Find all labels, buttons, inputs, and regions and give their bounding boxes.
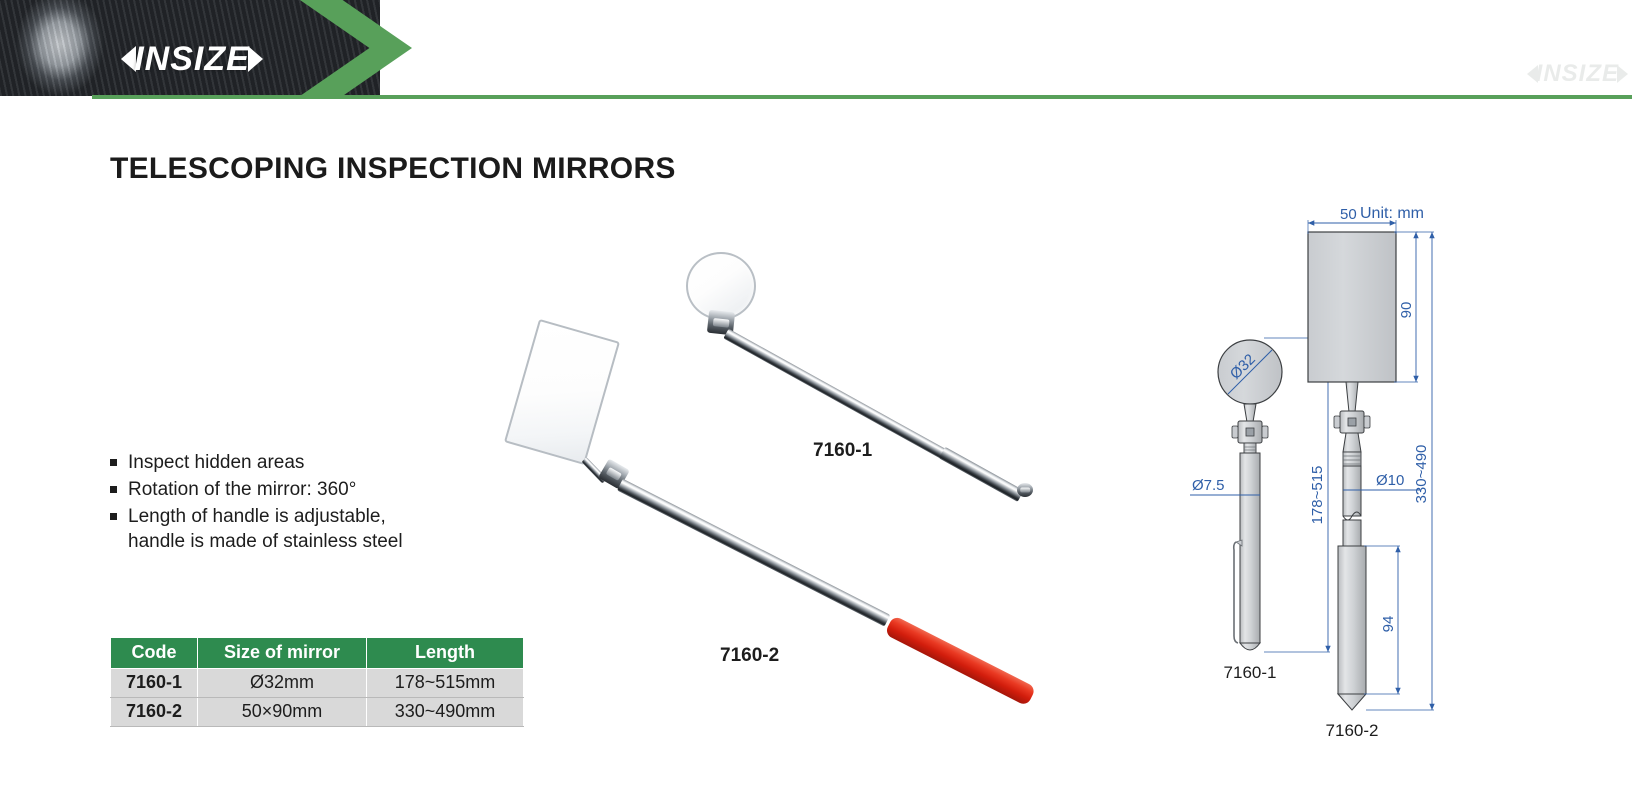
feature-text: Rotation of the mirror: 360° [128, 477, 356, 502]
cell-size: 50×90mm [198, 698, 367, 727]
header-green-rule [92, 95, 1632, 99]
square-bullet-icon [110, 513, 117, 520]
dimension-mirror-height: 90 [1398, 302, 1415, 319]
column-header-size: Size of mirror [198, 638, 367, 669]
list-item: Rotation of the mirror: 360° [110, 477, 510, 502]
technical-drawing-svg: Unit: mm Ø32 Ø7.5 [1180, 190, 1632, 750]
table-header-row: Code Size of mirror Length [111, 638, 524, 669]
dimension-handle-diameter-1: Ø7.5 [1192, 477, 1225, 494]
dimension-grip-length: 94 [1380, 616, 1397, 633]
photo-caption-7160-1: 7160-1 [813, 440, 872, 462]
dimension-length-2: 330~490 [1413, 445, 1430, 504]
red-rubber-grip [884, 615, 1036, 706]
dimension-handle-diameter-2: Ø10 [1376, 472, 1404, 489]
round-mirror-head [686, 252, 756, 320]
list-item: Inspect hidden areas [110, 450, 510, 475]
watermark-right-arrow-icon [1617, 65, 1628, 83]
telescoping-handle-lower [939, 447, 1024, 502]
dimension-mirror-width: 50 [1340, 206, 1357, 223]
product-photo-area: 7160-1 7160-2 [480, 210, 1100, 740]
table-row: 7160-2 50×90mm 330~490mm [111, 698, 524, 727]
insize-logo: INSIZE [92, 38, 292, 80]
page-title: TELESCOPING INSPECTION MIRRORS [110, 152, 676, 186]
dimension-length-1: 178~515 [1309, 466, 1326, 525]
square-bullet-icon [110, 486, 117, 493]
specification-table: Code Size of mirror Length 7160-1 Ø32mm … [110, 637, 524, 727]
square-bullet-icon [110, 459, 117, 466]
page-header: INSIZE INSIZE [0, 0, 1632, 100]
drawing-caption-7160-2: 7160-2 [1326, 721, 1379, 740]
logo-right-arrow-icon [248, 46, 263, 72]
telescoping-handle-upper [617, 479, 890, 627]
rectangular-mirror-head [504, 319, 620, 465]
unit-note-label: Unit: mm [1360, 205, 1424, 222]
technical-drawings: Unit: mm Ø32 Ø7.5 [1180, 190, 1632, 750]
column-header-code: Code [111, 638, 198, 669]
photo-caption-7160-2: 7160-2 [720, 645, 779, 667]
cell-size: Ø32mm [198, 669, 367, 698]
cell-code: 7160-1 [111, 669, 198, 698]
feature-list: Inspect hidden areas Rotation of the mir… [110, 450, 510, 556]
logo-wordmark: INSIZE [134, 40, 250, 79]
watermark-wordmark: INSIZE [1536, 60, 1619, 88]
feature-text: Length of handle is adjustable, handle i… [128, 504, 403, 554]
drawing-rect-mirror [1308, 232, 1396, 382]
insize-watermark: INSIZE [1527, 58, 1628, 90]
cell-code: 7160-2 [111, 698, 198, 727]
handle-end-cap [1017, 483, 1033, 497]
drawing-caption-7160-1: 7160-1 [1224, 663, 1277, 682]
catalog-page: INSIZE INSIZE TELESCOPING INSPECTION MIR… [0, 0, 1632, 809]
feature-text: Inspect hidden areas [128, 450, 304, 475]
list-item: Length of handle is adjustable, handle i… [110, 504, 510, 554]
table-row: 7160-1 Ø32mm 178~515mm [111, 669, 524, 698]
